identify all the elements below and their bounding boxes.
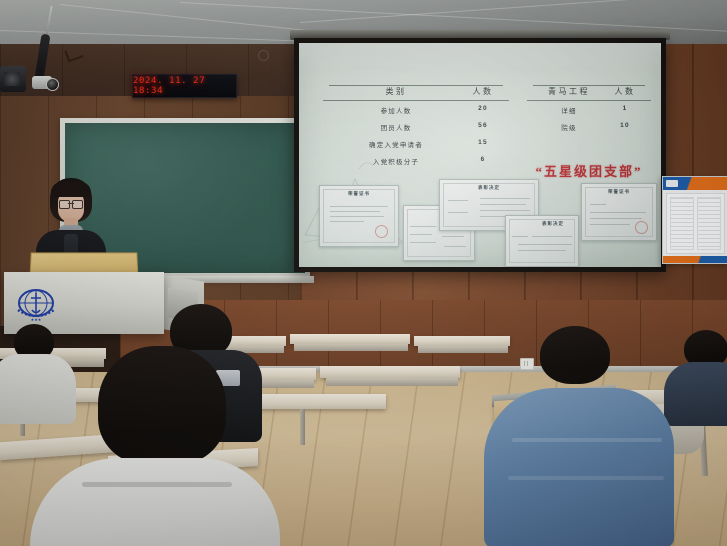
puffer-seam (82, 482, 232, 487)
cell-count: 15 (463, 139, 503, 149)
wall-speaker (0, 66, 26, 92)
notice-board-footer (663, 256, 727, 263)
slide-table-right: 青马工程 人数 详细 1 院级 10 (527, 85, 651, 135)
certificate-thumb: 荣誉证书 (319, 185, 399, 247)
cell-count: 20 (463, 105, 503, 115)
presenter-fringe (51, 182, 91, 197)
desk (290, 334, 410, 344)
certificate-title: 表彰决定 (528, 221, 578, 227)
desk-rail (418, 346, 508, 353)
table-row: 参加人数 20 (323, 101, 509, 118)
table-row: 院级 10 (527, 118, 651, 135)
cell-count: 6 (463, 156, 503, 166)
certificate-title: 荣誉证书 (582, 189, 656, 195)
screen-glare (299, 43, 661, 69)
slide-table-left: 类别 人数 参加人数 20 团员人数 56 确定入党申请者 15 入党积极分子 (323, 85, 509, 169)
puffer-seam (512, 438, 662, 442)
cell-count: 1 (605, 105, 645, 115)
notice-board-header (663, 177, 727, 190)
desk-rail (294, 344, 408, 351)
table-row: 团员人数 56 (323, 118, 509, 135)
column-header-count: 人数 (605, 86, 645, 97)
desk-rail (326, 378, 458, 386)
university-emblem-icon: ★★★ (14, 286, 58, 324)
classroom-photo: 2024. 11. 27 18:34 类别 人数 参加人数 (0, 0, 727, 546)
wall-fixture-mark (258, 50, 269, 61)
certificate-thumb: 表彰决定 (505, 215, 579, 267)
led-clock-text: 2024. 11. 27 18:34 (133, 76, 236, 96)
cell-count: 56 (463, 122, 503, 132)
projection-screen: 类别 人数 参加人数 20 团员人数 56 确定入党申请者 15 入党积极分子 (294, 38, 666, 272)
slide-content: 类别 人数 参加人数 20 团员人数 56 确定入党申请者 15 入党积极分子 (299, 43, 661, 267)
cell-category: 确定入党申请者 (329, 139, 463, 149)
column-header-category: 类别 (329, 86, 463, 97)
table-row: 详细 1 (527, 101, 651, 118)
column-header-program: 青马工程 (533, 86, 605, 97)
cell-category: 院级 (533, 122, 605, 132)
table-row: 确定入党申请者 15 (323, 135, 509, 152)
table-header-row: 类别 人数 (323, 86, 509, 101)
certificate-thumb: 荣誉证书 (581, 183, 657, 241)
cell-category: 参加人数 (329, 105, 463, 115)
certificate-title: 表彰决定 (440, 185, 538, 191)
column-header-count: 人数 (463, 86, 503, 97)
cell-count: 10 (605, 122, 645, 132)
table-header-row: 青马工程 人数 (527, 86, 651, 101)
cell-category: 入党积极分子 (329, 156, 463, 166)
cell-category: 团员人数 (329, 122, 463, 132)
cell-category: 详细 (533, 105, 605, 115)
puffer-seam (508, 476, 664, 480)
notice-board (662, 176, 727, 264)
notice-board-body (666, 193, 725, 254)
slide-red-banner: “五星级团支部” (523, 161, 655, 180)
desk (414, 336, 510, 346)
wall-outlet[interactable] (520, 358, 534, 370)
desk-leg (300, 409, 305, 445)
certificate-title: 荣誉证书 (320, 191, 398, 197)
table-row: 入党积极分子 6 (323, 152, 509, 169)
glasses-icon (59, 200, 83, 207)
svg-text:★★★: ★★★ (31, 317, 42, 322)
led-clock: 2024. 11. 27 18:34 (132, 74, 237, 98)
camera-lens-icon (46, 78, 59, 91)
desk (320, 366, 460, 378)
